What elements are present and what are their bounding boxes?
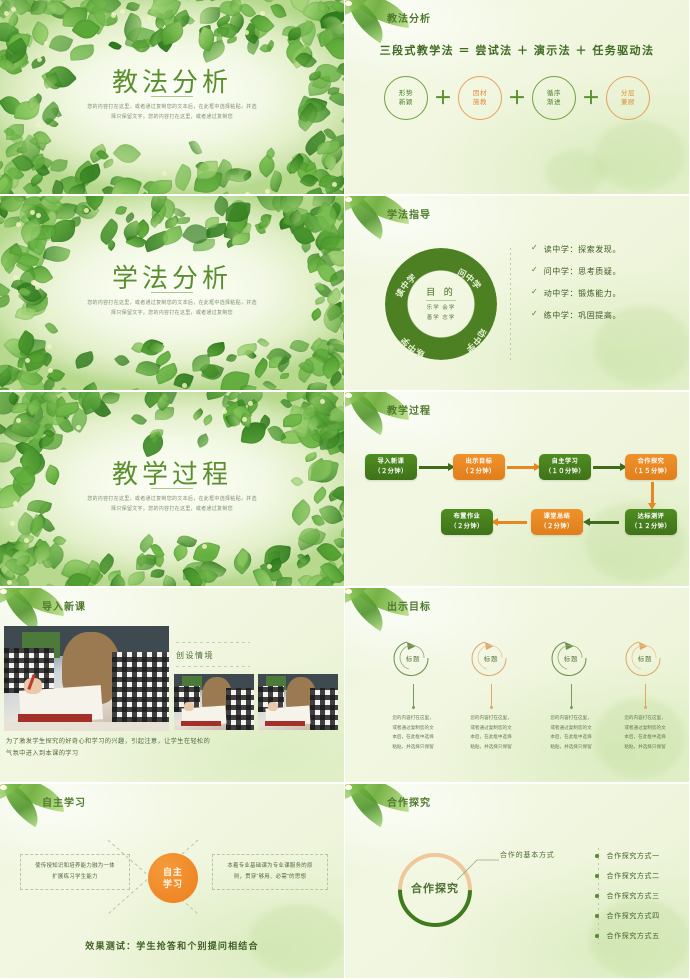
goal-connector-line-2 <box>491 684 492 706</box>
slide-3-title: 学法分析 <box>0 258 344 295</box>
flow-step-3-name: 自主学习 <box>552 457 579 467</box>
bud-icon <box>16 418 21 423</box>
autonomy-left-line-2: 扩展练习学生能力 <box>25 872 125 883</box>
leaf-icon <box>287 499 314 526</box>
bud-icon <box>47 344 52 349</box>
plus-icon: ＋ <box>508 89 526 107</box>
method-circle-1[interactable]: 形势 新颖 <box>384 76 428 120</box>
autonomy-circle-line-2: 学习 <box>163 878 183 890</box>
bud-icon <box>162 171 167 176</box>
donut-center-main: 目 的 <box>426 285 456 301</box>
bud-icon <box>48 368 53 373</box>
leaf-icon <box>177 217 190 225</box>
flower-icon <box>345 588 356 595</box>
goal-body-text-2: 您的内容打在这里， 或者通过复制您的文 本后，在此框中选择 粘贴，并选择只保留 <box>453 713 529 752</box>
cooperation-list-item[interactable]: 合作探究方式二 <box>595 866 660 886</box>
check-icon: ✓ <box>531 288 538 297</box>
flow-step-7-name: 布置作业 <box>454 512 481 522</box>
leader-line <box>457 858 499 880</box>
bullet-icon <box>595 894 599 898</box>
goal-connector-dot-4 <box>644 706 647 709</box>
slide-7-thumbnail[interactable]: ✦ 导入新课 创设情境 <box>0 588 345 784</box>
circular-arrow-icon: 标题 <box>619 636 671 680</box>
method-circle-3-line2: 渐进 <box>547 98 561 107</box>
bullet-icon <box>595 914 599 918</box>
method-circle-1-line2: 新颖 <box>399 98 413 107</box>
slide-5-subtitle: 您的内容打在这里，或者通过复制您的文本后，在此框中选择粘贴，并选 择只保留文字。… <box>68 495 276 515</box>
leaf-icon <box>257 336 269 348</box>
method-circle-2-line1: 因材 <box>473 89 487 98</box>
cooperation-basic-method-label: 合作的基本方式 <box>500 850 555 860</box>
goal-connector-dot-1 <box>412 706 415 709</box>
leaf-icon <box>44 320 58 335</box>
leaf-icon <box>50 158 68 173</box>
teaching-method-formula: 三段式教学法 ＝ 尝试法 ＋ 演示法 ＋ 任务驱动法 <box>345 42 689 58</box>
plus-icon: ＋ <box>434 89 452 107</box>
slide-5-subtitle-line-1: 您的内容打在这里，或者通过复制您的文本后，在此框中选择粘贴，并选 <box>68 495 276 505</box>
circular-arrow-icon: 标题 <box>465 636 517 680</box>
cooperation-method-list: 合作探究方式一 合作探究方式二 合作探究方式三 合作探究方式四 合作探究方式五 <box>595 846 660 946</box>
check-list-item-text: 练中学：巩固提高。 <box>544 310 621 321</box>
leaf-icon <box>289 338 309 355</box>
leaf-icon <box>299 187 326 196</box>
vertical-dotted-divider <box>510 248 511 360</box>
bullet-icon <box>595 934 599 938</box>
method-circle-2[interactable]: 因材 施教 <box>458 76 502 120</box>
autonomous-learning-circle[interactable]: 自主 学习 <box>148 853 198 903</box>
slide-6-thumbnail[interactable]: ✦ 教学过程 导入新课 （２分钟） 出示目标 （２分钟） 自主学习 （１０分钟）… <box>345 392 690 588</box>
slide-3-subtitle: 您的内容打在这里，或者通过复制您的文本后，在此框中选择粘贴，并选 择只保留文字。… <box>68 299 276 319</box>
leaf-icon <box>171 163 195 191</box>
goal-connector-line-3 <box>571 684 572 706</box>
leaf-icon <box>128 571 146 586</box>
leaf-icon <box>309 380 328 392</box>
bud-icon <box>49 311 54 316</box>
slide-1-subtitle: 您的内容打在这里，或者通过复制您的文本后，在此框中选择粘贴，并选 择只保留文字。… <box>68 103 276 123</box>
leaf-icon <box>115 205 127 217</box>
goal-label-2: 标题 <box>465 653 517 663</box>
bud-icon <box>36 123 41 128</box>
flow-arrow-3 <box>593 466 621 469</box>
flow-arrow-4 <box>651 482 654 504</box>
goal-label-1: 标题 <box>387 653 439 663</box>
autonomy-right-line-1: 本着专业基础课为专业课服务的原 <box>217 861 323 872</box>
slide-1-title: 教法分析 <box>0 62 344 99</box>
goal-label-3: 标题 <box>545 653 597 663</box>
goal-label-4: 标题 <box>619 653 671 663</box>
donut-center-text: 目 的 乐学 会学 善学 志学 <box>385 248 497 360</box>
leaf-icon <box>108 40 122 53</box>
effect-test-footer: 效果测试：学生抢答和个别提问相结合 <box>0 939 344 952</box>
autonomy-right-line-2: 则，贯穿“够用、必需”的思想 <box>217 872 323 883</box>
leaf-icon <box>239 384 256 392</box>
leaf-icon <box>189 139 203 156</box>
flow-step-6-name: 课堂总结 <box>544 512 571 522</box>
goal-connector-line-1 <box>413 684 414 706</box>
goal-body-text-4: 您的内容打在这里， 或者通过复制您的文 本后，在此框中选择 粘贴，并选择只保留 <box>607 713 683 752</box>
slide-10-title: 合作探究 <box>387 794 431 809</box>
method-circle-4[interactable]: 分层 兼顾 <box>606 76 650 120</box>
bud-icon <box>248 401 253 406</box>
slide-3-thumbnail[interactable]: 学法分析 您的内容打在这里，或者通过复制您的文本后，在此框中选择粘贴，并选 择只… <box>0 196 345 392</box>
plus-icon: ＋ <box>582 89 600 107</box>
leaf-icon <box>195 433 211 448</box>
flower-icon <box>345 784 356 791</box>
slide-7-caption: 为了激发学生探究的好奇心和学习的兴趣，引起注意，让学生在轻松的 气氛中进入到本课… <box>6 736 306 761</box>
bud-icon <box>30 210 35 215</box>
leaf-icon <box>96 219 121 246</box>
check-list-item: ✓ 问中学：思考质疑。 <box>531 266 681 277</box>
goal-column-2[interactable]: 标题 您的内容打在这里， 或者通过复制您的文 本后，在此框中选择 粘贴，并选择只… <box>453 636 529 752</box>
goal-connector-dot-2 <box>490 706 493 709</box>
photo-label-create-situation: 创设情境 <box>176 650 214 661</box>
cooperation-item-text: 合作探究方式四 <box>607 911 660 921</box>
cooperation-list-item[interactable]: 合作探究方式三 <box>595 886 660 906</box>
bud-icon <box>265 189 270 194</box>
bud-icon <box>10 521 15 526</box>
check-icon: ✓ <box>531 244 538 253</box>
flow-step-5-time: （１２分钟） <box>631 522 671 532</box>
goal-column-3[interactable]: 标题 您的内容打在这里， 或者通过复制您的文 本后，在此框中选择 粘贴，并选择只… <box>533 636 609 752</box>
slide-1-subtitle-line-2: 择只保留文字。您的内容打在这里，或者通过复制您 <box>68 113 276 123</box>
leaf-icon <box>160 574 179 588</box>
bud-icon <box>7 580 12 585</box>
autonomy-left-line-1: 使传授知识和培养能力融为一体 <box>25 861 125 872</box>
flow-step-7[interactable]: 布置作业 （２分钟） <box>441 509 493 535</box>
learning-method-check-list: ✓ 读中学：探索发现。 ✓ 问中学：思考质疑。 ✓ 动中学：锻炼能力。 ✓ 练中… <box>531 244 681 332</box>
slide-1-subtitle-line-1: 您的内容打在这里，或者通过复制您的文本后，在此框中选择粘贴，并选 <box>68 103 276 113</box>
slide-5-title: 教学过程 <box>0 454 344 491</box>
check-list-item-text: 动中学：锻炼能力。 <box>544 288 621 299</box>
flow-arrow-1 <box>419 466 449 469</box>
method-circle-4-line2: 兼顾 <box>621 98 635 107</box>
slide-8-thumbnail[interactable]: ✦ 出示目标 标题 您的内容打在这里， 或者通过复制您的文 本后，在此框中选择 … <box>345 588 690 784</box>
check-list-item-text: 问中学：思考质疑。 <box>544 266 621 277</box>
goal-connector-dot-3 <box>570 706 573 709</box>
leaf-icon <box>227 37 238 45</box>
slide-3-subtitle-line-2: 择只保留文字。您的内容打在这里，或者通过复制您 <box>68 309 276 319</box>
bud-icon <box>267 564 272 569</box>
donut-center-sub-line2: 善学 志学 <box>427 314 456 324</box>
flow-arrow-2 <box>507 466 535 469</box>
bud-icon <box>16 222 21 227</box>
teaching-process-flowchart: 导入新课 （２分钟） 出示目标 （２分钟） 自主学习 （１０分钟） 合作探究 （… <box>345 392 689 586</box>
bud-icon <box>36 213 41 218</box>
goal-column-4[interactable]: 标题 您的内容打在这里， 或者通过复制您的文 本后，在此框中选择 粘贴，并选择只… <box>607 636 683 752</box>
flower-icon <box>345 0 356 7</box>
goal-body-text-1: 您的内容打在这里， 或者通过复制您的文 本后，在此框中选择 粘贴，并选择只保留 <box>375 713 451 752</box>
slide-7-caption-line-1: 为了激发学生探究的好奇心和学习的兴趣，引起注意，让学生在轻松的 <box>6 736 306 748</box>
slide-5-thumbnail[interactable]: 教学过程 您的内容打在这里，或者通过复制您的文本后，在此框中选择粘贴，并选 择只… <box>0 392 345 588</box>
leaf-icon <box>148 180 173 195</box>
leaf-icon <box>130 412 147 428</box>
leaf-icon <box>232 232 250 244</box>
flow-step-1[interactable]: 导入新课 （２分钟） <box>365 454 417 480</box>
leaf-icon <box>314 296 325 305</box>
flow-arrow-6 <box>497 521 527 524</box>
bud-icon <box>222 409 227 414</box>
leaf-icon <box>310 308 324 322</box>
method-circle-3-line1: 循序 <box>547 89 561 98</box>
flow-step-5-name: 达标测评 <box>638 512 665 522</box>
bud-icon <box>13 501 18 506</box>
label-top-dash-line <box>176 642 250 643</box>
flow-step-1-name: 导入新课 <box>378 457 405 467</box>
check-list-item: ✓ 读中学：探索发现。 <box>531 244 681 255</box>
cooperation-item-text: 合作探究方式五 <box>607 931 660 941</box>
method-circle-3[interactable]: 循序 渐进 <box>532 76 576 120</box>
slide-7-title: 导入新课 <box>42 598 86 613</box>
bud-icon <box>244 30 249 35</box>
slide-7-caption-line-2: 气氛中进入到本课的学习 <box>6 748 306 760</box>
slide-deck-grid: 教法分析 您的内容打在这里，或者通过复制您的文本后，在此框中选择粘贴，并选 择只… <box>0 0 690 980</box>
donut-center-sub: 乐学 会学 善学 志学 <box>427 304 456 323</box>
leaf-icon <box>280 373 289 379</box>
flow-step-7-time: （２分钟） <box>450 522 483 532</box>
bud-icon <box>320 399 325 404</box>
bud-icon <box>120 9 125 14</box>
leaf-icon <box>226 352 237 363</box>
slide-4-thumbnail[interactable]: ✦ 学法指导 读中学 问中学 动中学 练中学 <box>345 196 690 392</box>
cooperation-ring-label: 合作探究 <box>395 880 475 896</box>
leaf-icon <box>208 0 222 1</box>
cooperation-list-item[interactable]: 合作探究方式四 <box>595 906 660 926</box>
flow-step-5[interactable]: 达标测评 （１２分钟） <box>625 509 677 535</box>
flow-step-1-time: （２分钟） <box>374 467 407 477</box>
circular-arrow-icon: 标题 <box>387 636 439 680</box>
donut-center-sub-line1: 乐学 会学 <box>427 304 456 314</box>
bud-icon <box>242 417 247 422</box>
leaf-icon <box>196 0 206 1</box>
autonomy-circle-line-1: 自主 <box>163 866 183 878</box>
flower-icon <box>0 784 11 791</box>
check-list-item-text: 读中学：探索发现。 <box>544 244 621 255</box>
slide-10-thumbnail[interactable]: ✦ 合作探究 合作探究 合作的基本方式 合作探究方式一 合作探究方式二 <box>345 784 690 980</box>
leaf-icon <box>202 414 215 426</box>
leaf-icon <box>126 0 140 12</box>
check-list-item: ✓ 动中学：锻炼能力。 <box>531 288 681 299</box>
check-list-item: ✓ 练中学：巩固提高。 <box>531 310 681 321</box>
leaf-icon <box>79 382 100 392</box>
flow-step-3[interactable]: 自主学习 （１０分钟） <box>539 454 591 480</box>
slide-4-title: 学法指导 <box>387 206 431 221</box>
bullet-icon <box>595 874 599 878</box>
leaf-icon <box>113 139 142 168</box>
leaf-icon <box>150 568 165 579</box>
bud-icon <box>147 16 152 21</box>
flow-step-6[interactable]: 课堂总结 （２分钟） <box>531 509 583 535</box>
leaf-icon <box>262 0 274 5</box>
flow-step-2-name: 出示目标 <box>466 457 493 467</box>
slide-8-title: 出示目标 <box>387 598 431 613</box>
flow-step-2[interactable]: 出示目标 （２分钟） <box>453 454 505 480</box>
leaf-icon <box>114 352 130 368</box>
title-underline-rule <box>151 96 193 97</box>
flow-step-6-time: （２分钟） <box>540 522 573 532</box>
leaf-icon <box>136 555 155 570</box>
classroom-photo-small-1[interactable] <box>174 674 254 730</box>
flow-arrow-5 <box>589 521 619 524</box>
leaf-icon <box>161 225 185 246</box>
cooperation-list-item[interactable]: 合作探究方式一 <box>595 846 660 866</box>
flower-icon <box>345 196 356 203</box>
leaf-icon <box>0 295 11 309</box>
slide-5-subtitle-line-2: 择只保留文字。您的内容打在这里，或者通过复制您 <box>68 505 276 515</box>
method-circle-4-line1: 分层 <box>621 89 635 98</box>
classroom-photo-large[interactable] <box>4 626 169 731</box>
flower-icon <box>0 588 11 595</box>
flow-step-4-time: （１５分钟） <box>631 467 671 477</box>
cooperation-item-text: 合作探究方式三 <box>607 891 660 901</box>
cooperation-item-text: 合作探究方式一 <box>607 851 660 861</box>
bud-icon <box>25 358 30 363</box>
leaf-icon <box>74 351 95 369</box>
flow-step-4-name: 合作探究 <box>638 457 665 467</box>
leaf-icon <box>0 324 2 336</box>
slide-9-title: 自主学习 <box>42 794 86 809</box>
title-underline-rule <box>151 488 193 489</box>
leaf-icon <box>270 1 287 19</box>
leaf-icon <box>337 392 345 397</box>
leaf-icon <box>155 407 174 420</box>
bullet-icon <box>595 854 599 858</box>
slide-3-subtitle-line-1: 您的内容打在这里，或者通过复制您的文本后，在此框中选择粘贴，并选 <box>68 299 276 309</box>
label-bottom-dash-line <box>176 666 250 667</box>
learning-purpose-donut: 读中学 问中学 动中学 练中学 目 的 乐学 会学 善学 志学 <box>375 242 505 372</box>
autonomy-left-box: 使传授知识和培养能力融为一体 扩展练习学生能力 <box>20 854 130 890</box>
method-circle-1-line1: 形势 <box>399 89 413 98</box>
autonomy-right-box: 本着专业基础课为专业课服务的原 则，贯穿“够用、必需”的思想 <box>212 854 328 890</box>
circular-arrow-icon: 标题 <box>545 636 597 680</box>
slide-2-title: 教法分析 <box>387 10 431 25</box>
method-circles-row: 形势 新颖 ＋ 因材 施教 ＋ 循序 渐进 ＋ 分层 兼顾 <box>369 76 665 120</box>
classroom-photo-small-2[interactable] <box>258 674 338 730</box>
slide-1-thumbnail[interactable]: 教法分析 您的内容打在这里，或者通过复制您的文本后，在此框中选择粘贴，并选 择只… <box>0 0 345 196</box>
check-icon: ✓ <box>531 266 538 275</box>
flow-step-2-time: （２分钟） <box>462 467 495 477</box>
leaf-icon <box>69 44 94 60</box>
check-icon: ✓ <box>531 310 538 319</box>
flow-step-4[interactable]: 合作探究 （１５分钟） <box>625 454 677 480</box>
slide-9-thumbnail[interactable]: ✦ 自主学习 使传授知识和培养能力融为一体 扩展练习学生能力 自主 学习 本着专… <box>0 784 345 980</box>
slide-2-thumbnail[interactable]: ✦ 教法分析 三段式教学法 ＝ 尝试法 ＋ 演示法 ＋ 任务驱动法 形势 新颖 … <box>345 0 690 196</box>
title-underline-rule <box>151 292 193 293</box>
cooperation-item-text: 合作探究方式二 <box>607 871 660 881</box>
method-circle-2-line2: 施教 <box>473 98 487 107</box>
goal-body-text-3: 您的内容打在这里， 或者通过复制您的文 本后，在此框中选择 粘贴，并选择只保留 <box>533 713 609 752</box>
goal-connector-line-4 <box>645 684 646 706</box>
flow-step-3-time: （１０分钟） <box>545 467 585 477</box>
goal-column-1[interactable]: 标题 您的内容打在这里， 或者通过复制您的文 本后，在此框中选择 粘贴，并选择只… <box>375 636 451 752</box>
cooperation-list-item[interactable]: 合作探究方式五 <box>595 926 660 946</box>
